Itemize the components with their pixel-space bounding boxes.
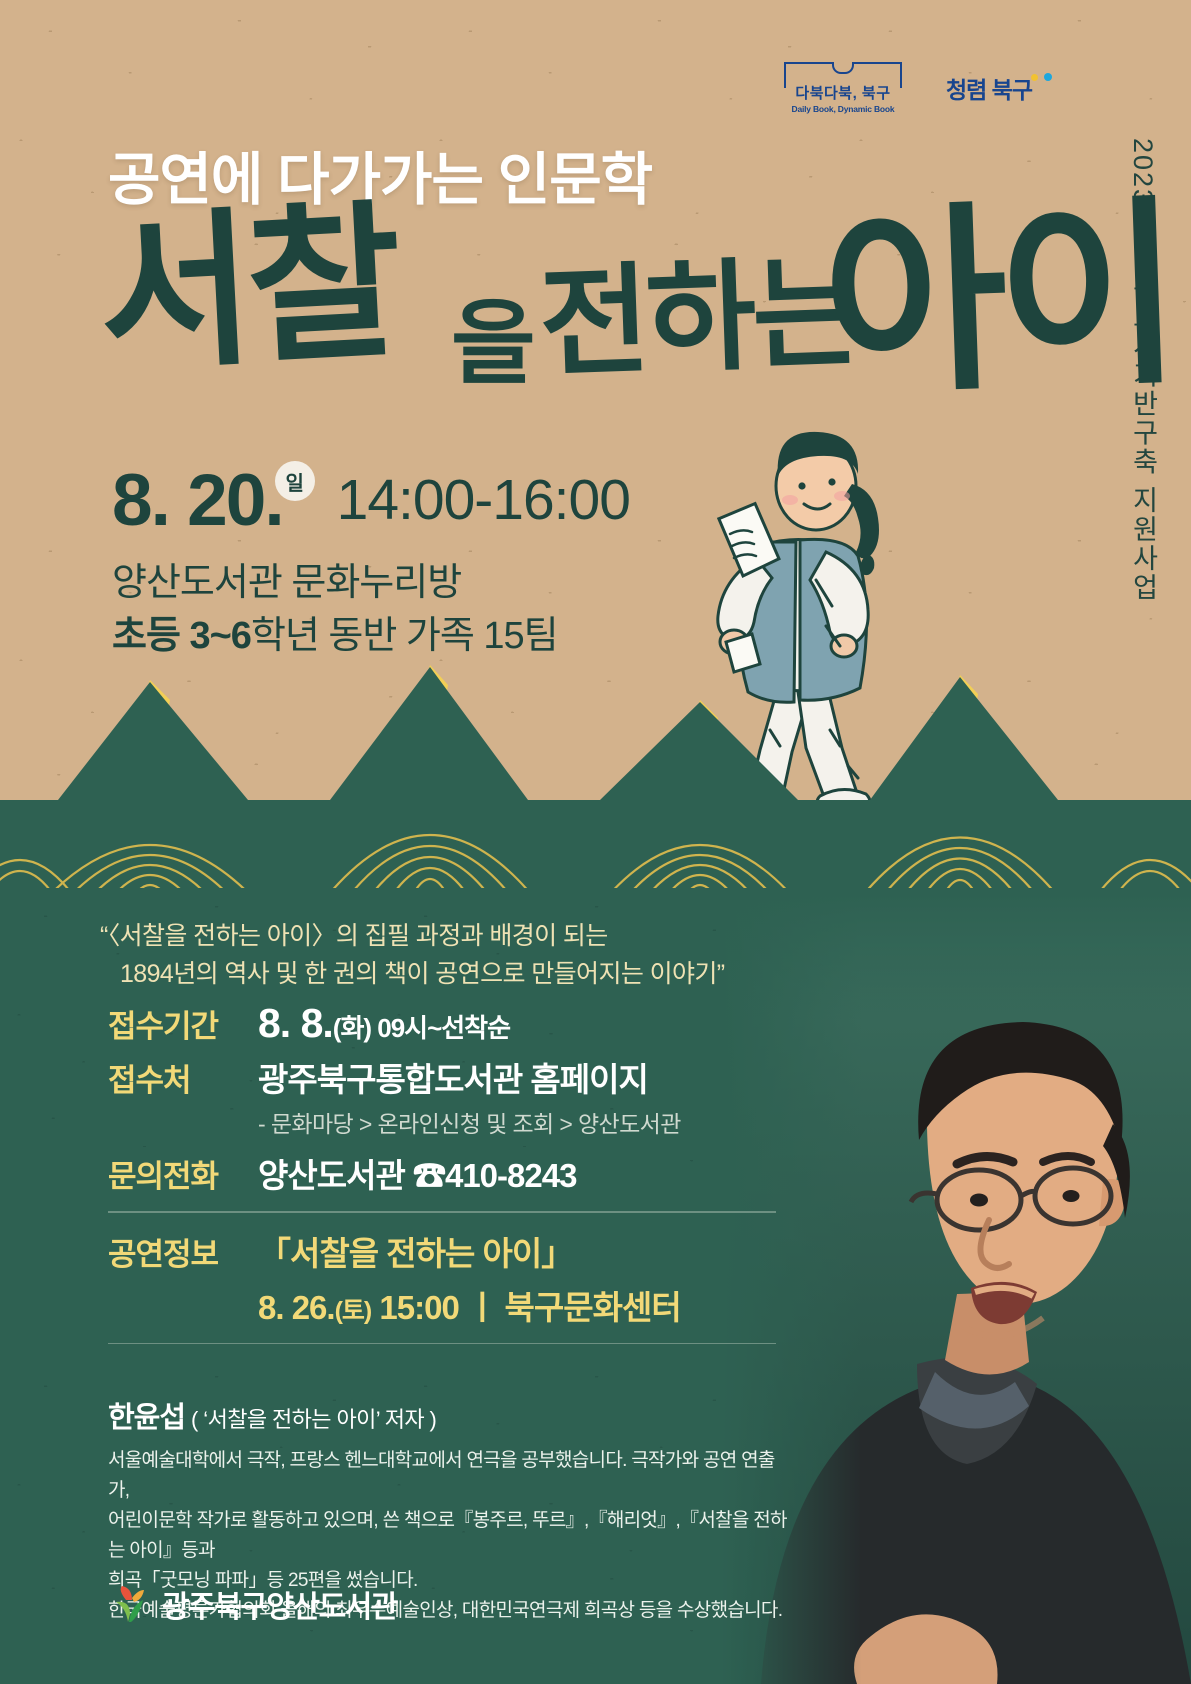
author-role: ( ‘서찰을 전하는 아이’ 저자 ) — [191, 1402, 436, 1434]
performance-day: (토) — [335, 1297, 372, 1325]
value-performance-title: 「서찰을 전하는 아이」 — [258, 1227, 573, 1275]
program-quote: “〈서찰을 전하는 아이〉의 집필 과정과 배경이 되는 1894년의 역사 및… — [100, 918, 860, 993]
library-leaf-icon — [108, 1584, 150, 1624]
performance-separator: ㅣ — [467, 1289, 496, 1326]
dabuk-book-logo: 다북다북, 북구 Daily Book, Dynamic Book — [784, 62, 902, 114]
author-divider — [108, 1343, 776, 1345]
label-registration-channel: 접수처 — [108, 1055, 258, 1100]
info-row-performance: 공연정보 「서찰을 전하는 아이」 — [108, 1227, 808, 1275]
logo-group: 다북다북, 북구 Daily Book, Dynamic Book 청렴 북구 — [784, 62, 1051, 114]
registration-info: 접수기간 8. 8.(화) 09시~선착순 접수처 광주북구통합도서관 홈페이지… — [108, 1000, 808, 1358]
label-performance-info: 공연정보 — [108, 1229, 258, 1274]
registration-date-detail: (화) 09시~선착순 — [333, 1013, 510, 1043]
yellow-dot-icon — [1031, 74, 1038, 81]
author-bio-line-2: 어린이문학 작가로 활동하고 있으며, 쓴 책으로『봉주르, 뚜르』,『해리엇』… — [108, 1506, 788, 1566]
quote-line-2: 1894년의 역사 및 한 권의 책이 공연으로 만들어지는 이야기” — [100, 956, 860, 994]
svg-text:전하는: 전하는 — [537, 246, 861, 391]
svg-text:아이: 아이 — [820, 183, 1176, 418]
value-contact-phone: 양산도서관 ☎410-8243 — [258, 1149, 576, 1197]
info-row-channel: 접수처 광주북구통합도서관 홈페이지 — [108, 1053, 808, 1101]
cheongryeom-bukgu-logo: 청렴 북구 — [946, 71, 1051, 105]
value-performance-schedule: 8. 26.(토) 15:00 ㅣ 북구문화센터 — [258, 1281, 681, 1329]
label-registration-period: 접수기간 — [108, 1001, 258, 1046]
svg-text:을: 을 — [451, 293, 536, 395]
performance-venue: 북구문화센터 — [505, 1289, 681, 1326]
blue-dot-icon — [1044, 73, 1052, 81]
mountain-pattern — [0, 640, 1191, 905]
performance-date: 8. 26. — [258, 1289, 335, 1326]
event-place: 양산도서관 문화누리방 — [112, 551, 461, 606]
book-logo-en: Daily Book, Dynamic Book — [784, 104, 902, 114]
label-contact-phone: 문의전화 — [108, 1151, 258, 1196]
info-row-phone: 문의전화 양산도서관 ☎410-8243 — [108, 1149, 808, 1197]
value-registration-period: 8. 8.(화) 09시~선착순 — [258, 1000, 510, 1047]
event-day-badge: 일 — [275, 461, 315, 501]
author-bio-line-1: 서울예술대학에서 극작, 프랑스 헨느대학교에서 연극을 공부했습니다. 극작가… — [108, 1446, 788, 1506]
event-date: 8. 20. — [112, 466, 283, 535]
value-registration-channel: 광주북구통합도서관 홈페이지 — [258, 1053, 648, 1101]
open-book-icon — [784, 62, 902, 88]
poster-root: 다북다북, 북구 Daily Book, Dynamic Book 청렴 북구 … — [0, 0, 1191, 1684]
info-divider — [108, 1211, 776, 1213]
registration-date: 8. 8. — [258, 1000, 333, 1046]
author-name: 한윤섭 — [108, 1394, 185, 1436]
footer-organization: 광주북구양산도서관 — [162, 1582, 397, 1626]
footer-logo: 광주북구양산도서관 — [108, 1582, 397, 1626]
svg-text:서찰: 서찰 — [94, 187, 404, 390]
event-time: 14:00-16:00 — [337, 467, 630, 533]
quote-line-1: “〈서찰을 전하는 아이〉의 집필 과정과 배경이 되는 — [100, 918, 860, 956]
info-row-period: 접수기간 8. 8.(화) 09시~선착순 — [108, 1000, 808, 1047]
event-datetime-row: 8. 20. 일 14:00-16:00 — [112, 466, 630, 535]
book-logo-kr: 다북다북, 북구 — [784, 86, 902, 101]
info-row-performance-schedule: 8. 26.(토) 15:00 ㅣ 북구문화센터 — [108, 1281, 808, 1329]
page-title: 서찰 을 전하는 아이 — [96, 215, 996, 425]
performance-time: 15:00 — [379, 1289, 458, 1326]
registration-path-note: - 문화마당 > 온라인신청 및 조회 > 양산도서관 — [258, 1105, 808, 1139]
clean-logo-text: 청렴 북구 — [946, 71, 1032, 105]
